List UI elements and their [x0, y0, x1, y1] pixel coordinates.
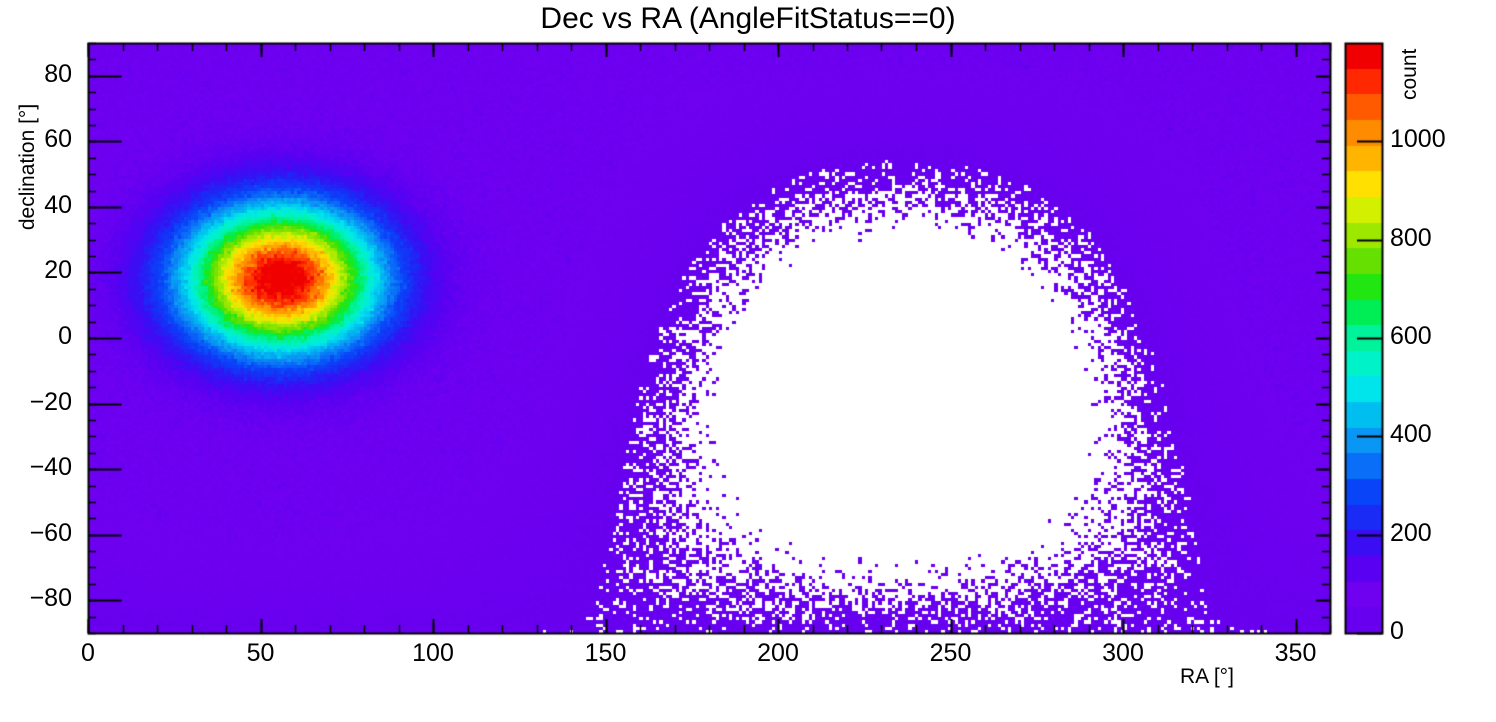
colorbar-tick-label: 400 — [1390, 420, 1480, 449]
plot-canvas-frame: Dec vs RA (AngleFitStatus==0) declinatio… — [0, 0, 1496, 722]
x-tick-label: 300 — [1078, 639, 1168, 668]
colorbar-tick-label: 600 — [1390, 322, 1480, 351]
page-title: Dec vs RA (AngleFitStatus==0) — [0, 2, 1496, 36]
colorbar-title: count — [1398, 0, 1422, 100]
y-tick-label: −20 — [2, 388, 72, 417]
y-tick-label: 20 — [2, 256, 72, 285]
x-axis-title: RA [°] — [1180, 665, 1234, 689]
y-tick-label: 0 — [2, 322, 72, 351]
y-tick-label: 40 — [2, 191, 72, 220]
x-tick-label: 50 — [216, 639, 306, 668]
y-tick-label: −80 — [2, 584, 72, 613]
x-tick-label: 100 — [388, 639, 478, 668]
colorbar-tick-label: 800 — [1390, 224, 1480, 253]
y-axis-title: declination [°] — [16, 77, 40, 257]
x-tick-label: 0 — [43, 639, 133, 668]
x-tick-label: 150 — [561, 639, 651, 668]
heatmap-canvas[interactable] — [0, 0, 1496, 722]
y-tick-label: −40 — [2, 453, 72, 482]
x-tick-label: 200 — [733, 639, 823, 668]
y-tick-label: −60 — [2, 519, 72, 548]
colorbar-tick-label: 0 — [1390, 617, 1480, 646]
y-tick-label: 60 — [2, 125, 72, 154]
x-tick-label: 350 — [1251, 639, 1341, 668]
y-tick-label: 80 — [2, 60, 72, 89]
x-tick-label: 250 — [906, 639, 996, 668]
colorbar-tick-label: 200 — [1390, 519, 1480, 548]
colorbar-tick-label: 1000 — [1390, 125, 1480, 154]
